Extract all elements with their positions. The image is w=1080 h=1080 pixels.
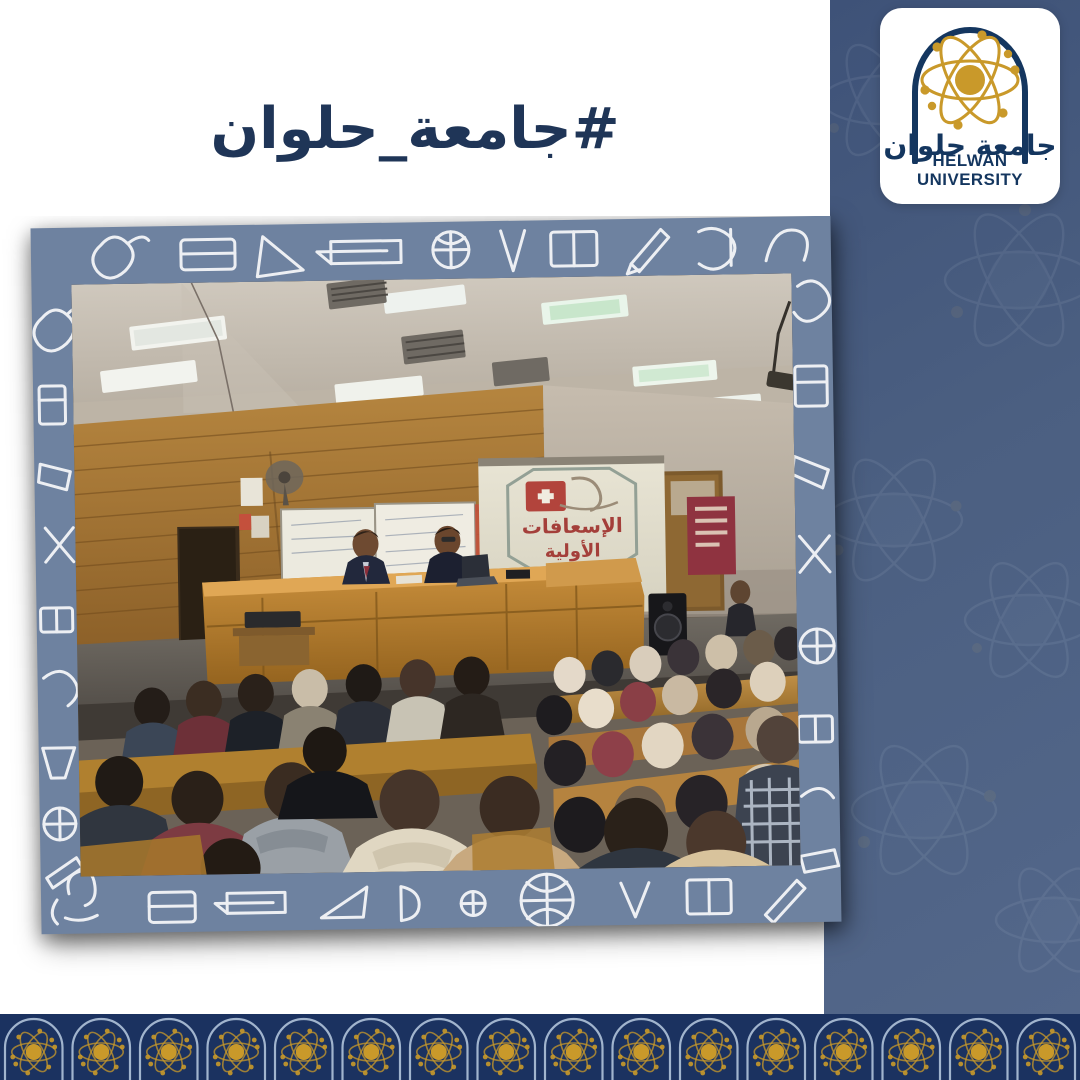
svg-text:الإسعافات: الإسعافات <box>522 513 623 539</box>
photo-frame[interactable]: الإسعافات الأولية Prepared by Dr. Mohame… <box>31 216 842 934</box>
page-title: #جامعة_حلوان <box>0 96 830 162</box>
atom-arch-tiles <box>0 1014 1080 1080</box>
svg-text:الأولية: الأولية <box>545 539 601 562</box>
atom-icon <box>910 26 1030 134</box>
helwan-university-logo[interactable]: جامعة حلوان HELWAN UNIVERSITY <box>880 8 1060 204</box>
logo-english-title: HELWAN UNIVERSITY <box>880 152 1060 190</box>
atom-arch-border <box>0 1014 1080 1080</box>
poster-canvas: #جامعة_حلوان <box>0 0 1080 1080</box>
header-band: #جامعة_حلوان <box>0 0 830 216</box>
lecture-hall-scene: الإسعافات الأولية Prepared by Dr. Mohame… <box>71 273 800 876</box>
lecture-hall-photograph[interactable]: الإسعافات الأولية Prepared by Dr. Mohame… <box>71 273 800 876</box>
logo-inner: جامعة حلوان HELWAN UNIVERSITY <box>880 8 1060 204</box>
